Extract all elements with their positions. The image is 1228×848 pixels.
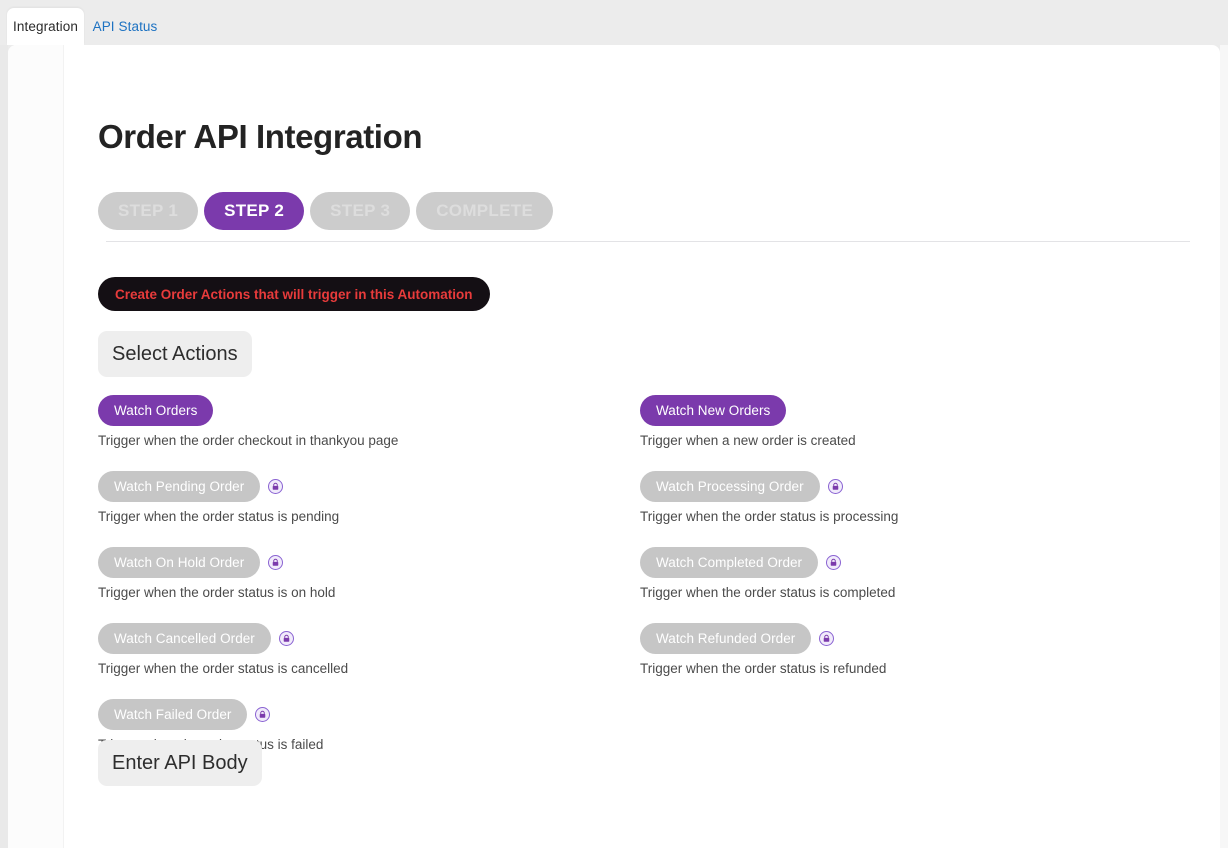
action-watch-new-orders[interactable]: Watch New Orders [640, 395, 786, 426]
action-row: Watch Cancelled Order Trigger when the o… [98, 623, 628, 676]
lock-badge-icon[interactable] [268, 479, 283, 494]
action-row: Watch On Hold Order Trigger when the ord… [98, 547, 628, 600]
page-title: Order API Integration [98, 118, 422, 156]
section-heading-enter-api-body: Enter API Body [98, 740, 262, 786]
lock-badge-icon[interactable] [255, 707, 270, 722]
action-watch-failed-order[interactable]: Watch Failed Order [98, 699, 247, 730]
action-watch-refunded-order-label: Watch Refunded Order [656, 631, 795, 646]
action-watch-cancelled-order-description: Trigger when the order status is cancell… [98, 661, 628, 676]
step-pill-2-label: STEP 2 [224, 201, 284, 221]
action-watch-on-hold-order-label: Watch On Hold Order [114, 555, 244, 570]
action-watch-pending-order-label: Watch Pending Order [114, 479, 244, 494]
action-watch-new-orders-description: Trigger when a new order is created [640, 433, 1170, 448]
action-watch-new-orders-label: Watch New Orders [656, 403, 770, 418]
action-watch-completed-order-label: Watch Completed Order [656, 555, 802, 570]
step-pill-3[interactable]: STEP 3 [310, 192, 410, 230]
action-watch-cancelled-order-label: Watch Cancelled Order [114, 631, 255, 646]
action-pill-wrap: Watch Pending Order [98, 471, 628, 502]
action-watch-processing-order-label: Watch Processing Order [656, 479, 804, 494]
tab-integration[interactable]: Integration [7, 8, 84, 45]
action-watch-processing-order-description: Trigger when the order status is process… [640, 509, 1170, 524]
step-pill-1-label: STEP 1 [118, 201, 178, 221]
step-progress: STEP 1 STEP 2 STEP 3 COMPLETE [98, 192, 553, 230]
action-pill-wrap: Watch Failed Order [98, 699, 628, 730]
action-watch-completed-order-description: Trigger when the order status is complet… [640, 585, 1170, 600]
action-row: Watch Processing Order Trigger when the … [640, 471, 1170, 524]
action-watch-completed-order[interactable]: Watch Completed Order [640, 547, 818, 578]
action-row: Watch Pending Order Trigger when the ord… [98, 471, 628, 524]
section-heading-enter-api-body-label: Enter API Body [112, 752, 248, 775]
step-pill-3-label: STEP 3 [330, 201, 390, 221]
content-panel: Order API Integration STEP 1 STEP 2 STEP… [8, 45, 1220, 848]
action-pill-wrap: Watch Orders [98, 395, 628, 426]
lock-badge-icon[interactable] [279, 631, 294, 646]
section-heading-select-actions-label: Select Actions [112, 343, 238, 366]
sidebar-rail [8, 45, 64, 848]
window-right-edge [1220, 45, 1228, 848]
action-watch-processing-order[interactable]: Watch Processing Order [640, 471, 820, 502]
action-watch-refunded-order[interactable]: Watch Refunded Order [640, 623, 811, 654]
step-pill-complete-label: COMPLETE [436, 201, 533, 221]
notice-banner-text: Create Order Actions that will trigger i… [115, 287, 473, 302]
action-watch-failed-order-label: Watch Failed Order [114, 707, 231, 722]
section-heading-select-actions: Select Actions [98, 331, 252, 377]
action-row: Watch Completed Order Trigger when the o… [640, 547, 1170, 600]
action-watch-cancelled-order[interactable]: Watch Cancelled Order [98, 623, 271, 654]
header-divider [106, 241, 1190, 242]
step-pill-complete[interactable]: COMPLETE [416, 192, 553, 230]
lock-badge-icon[interactable] [828, 479, 843, 494]
tab-api-status[interactable]: API Status [92, 8, 158, 45]
step-pill-2[interactable]: STEP 2 [204, 192, 304, 230]
action-pill-wrap: Watch Completed Order [640, 547, 1170, 578]
tab-api-status-label: API Status [93, 19, 158, 34]
action-row: Watch New Orders Trigger when a new orde… [640, 395, 1170, 448]
notice-banner: Create Order Actions that will trigger i… [98, 277, 490, 311]
action-watch-pending-order-description: Trigger when the order status is pending [98, 509, 628, 524]
action-pill-wrap: Watch Refunded Order [640, 623, 1170, 654]
action-watch-orders-label: Watch Orders [114, 403, 197, 418]
action-watch-on-hold-order-description: Trigger when the order status is on hold [98, 585, 628, 600]
action-watch-refunded-order-description: Trigger when the order status is refunde… [640, 661, 1170, 676]
actions-column-left: Watch Orders Trigger when the order chec… [98, 395, 628, 775]
lock-badge-icon[interactable] [819, 631, 834, 646]
tab-integration-label: Integration [13, 19, 78, 34]
lock-badge-icon[interactable] [826, 555, 841, 570]
lock-badge-icon[interactable] [268, 555, 283, 570]
action-pill-wrap: Watch Cancelled Order [98, 623, 628, 654]
action-pill-wrap: Watch On Hold Order [98, 547, 628, 578]
action-watch-orders[interactable]: Watch Orders [98, 395, 213, 426]
action-watch-on-hold-order[interactable]: Watch On Hold Order [98, 547, 260, 578]
action-pill-wrap: Watch New Orders [640, 395, 1170, 426]
action-watch-orders-description: Trigger when the order checkout in thank… [98, 433, 628, 448]
step-pill-1[interactable]: STEP 1 [98, 192, 198, 230]
window-left-edge [0, 45, 8, 848]
action-row: Watch Refunded Order Trigger when the or… [640, 623, 1170, 676]
actions-column-right: Watch New Orders Trigger when a new orde… [640, 395, 1170, 699]
action-row: Watch Orders Trigger when the order chec… [98, 395, 628, 448]
tab-bar: Integration API Status [0, 0, 1228, 45]
main-content: Order API Integration STEP 1 STEP 2 STEP… [98, 45, 1190, 848]
action-watch-pending-order[interactable]: Watch Pending Order [98, 471, 260, 502]
action-pill-wrap: Watch Processing Order [640, 471, 1170, 502]
